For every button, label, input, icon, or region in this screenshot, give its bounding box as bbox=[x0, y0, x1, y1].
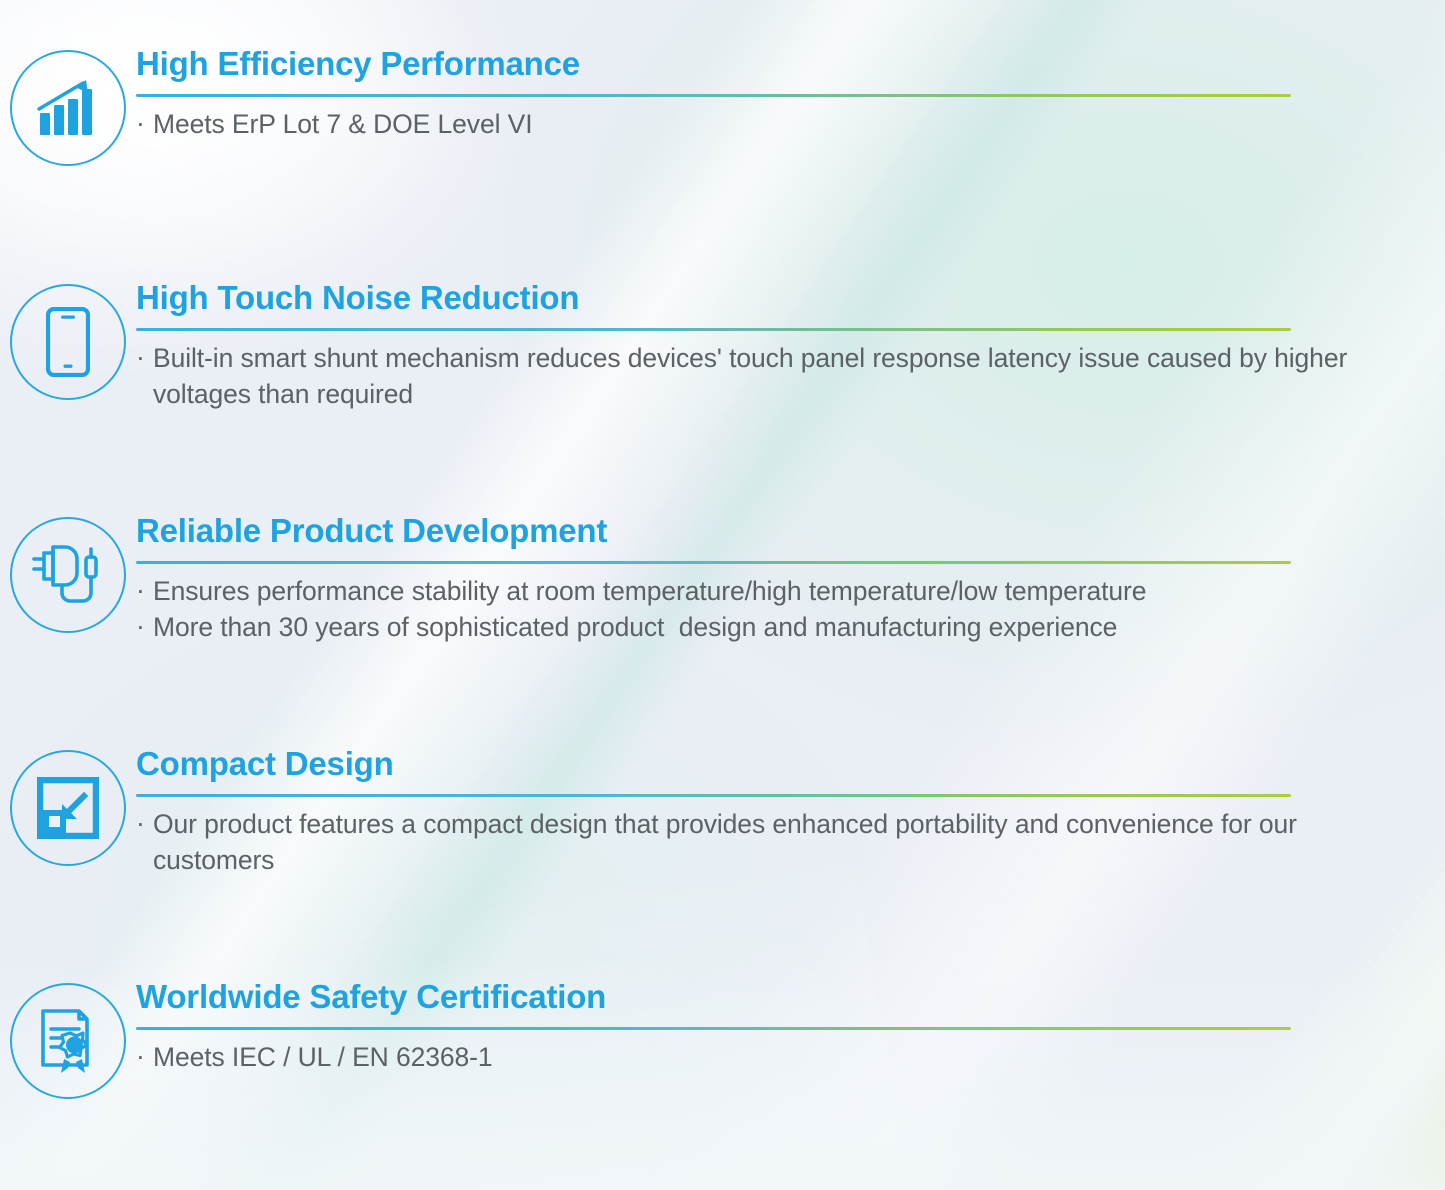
feature-body: High Efficiency Performance Meets ErP Lo… bbox=[136, 46, 1445, 142]
feature-bullets: Built-in smart shunt mechanism reduces d… bbox=[136, 340, 1365, 413]
bullet-item: Our product features a compact design th… bbox=[136, 806, 1365, 879]
feature-title: High Touch Noise Reduction bbox=[136, 280, 1365, 317]
feature-body: Reliable Product Development Ensures per… bbox=[136, 513, 1445, 646]
feature-body: Worldwide Safety Certification Meets IEC… bbox=[136, 979, 1445, 1075]
icon-circle bbox=[10, 750, 126, 866]
feature-body: Compact Design Our product features a co… bbox=[136, 746, 1445, 879]
compact-resize-icon bbox=[37, 777, 99, 839]
feature-icon-wrap bbox=[0, 280, 136, 400]
feature-bullets: Meets IEC / UL / EN 62368-1 bbox=[136, 1039, 1365, 1075]
power-adapter-icon bbox=[31, 541, 105, 609]
feature-divider bbox=[136, 1027, 1291, 1030]
icon-circle bbox=[10, 517, 126, 633]
feature-bullets: Our product features a compact design th… bbox=[136, 806, 1365, 879]
bullet-item: Meets IEC / UL / EN 62368-1 bbox=[136, 1039, 1365, 1075]
feature-bullets: Ensures performance stability at room te… bbox=[136, 573, 1365, 646]
bullet-item: More than 30 years of sophisticated prod… bbox=[136, 609, 1365, 645]
feature-bullets: Meets ErP Lot 7 & DOE Level VI bbox=[136, 106, 1365, 142]
feature-icon-wrap bbox=[0, 513, 136, 633]
smartphone-icon bbox=[46, 307, 90, 377]
feature-icon-wrap bbox=[0, 746, 136, 866]
feature-icon-wrap bbox=[0, 46, 136, 166]
feature-item-high-touch-noise-reduction: High Touch Noise Reduction Built-in smar… bbox=[0, 280, 1445, 413]
feature-divider bbox=[136, 794, 1291, 797]
feature-divider bbox=[136, 561, 1291, 564]
feature-body: High Touch Noise Reduction Built-in smar… bbox=[136, 280, 1445, 413]
bullet-item: Meets ErP Lot 7 & DOE Level VI bbox=[136, 106, 1365, 142]
feature-title: High Efficiency Performance bbox=[136, 46, 1365, 83]
icon-circle bbox=[10, 983, 126, 1099]
feature-item-worldwide-safety-certification: Worldwide Safety Certification Meets IEC… bbox=[0, 979, 1445, 1099]
feature-title: Reliable Product Development bbox=[136, 513, 1365, 550]
bar-chart-growth-icon bbox=[36, 77, 100, 139]
bullet-item: Ensures performance stability at room te… bbox=[136, 573, 1365, 609]
feature-item-compact-design: Compact Design Our product features a co… bbox=[0, 746, 1445, 879]
feature-highlights-page: High Efficiency Performance Meets ErP Lo… bbox=[0, 0, 1445, 1190]
icon-circle bbox=[10, 284, 126, 400]
bullet-item: Built-in smart shunt mechanism reduces d… bbox=[136, 340, 1365, 413]
icon-circle bbox=[10, 50, 126, 166]
feature-item-high-efficiency-performance: High Efficiency Performance Meets ErP Lo… bbox=[0, 46, 1445, 166]
feature-divider bbox=[136, 328, 1291, 331]
feature-title: Worldwide Safety Certification bbox=[136, 979, 1365, 1016]
feature-title: Compact Design bbox=[136, 746, 1365, 783]
feature-icon-wrap bbox=[0, 979, 136, 1099]
feature-item-reliable-product-development: Reliable Product Development Ensures per… bbox=[0, 513, 1445, 646]
feature-list: High Efficiency Performance Meets ErP Lo… bbox=[0, 0, 1445, 1190]
feature-divider bbox=[136, 94, 1291, 97]
certificate-award-icon bbox=[35, 1007, 101, 1075]
